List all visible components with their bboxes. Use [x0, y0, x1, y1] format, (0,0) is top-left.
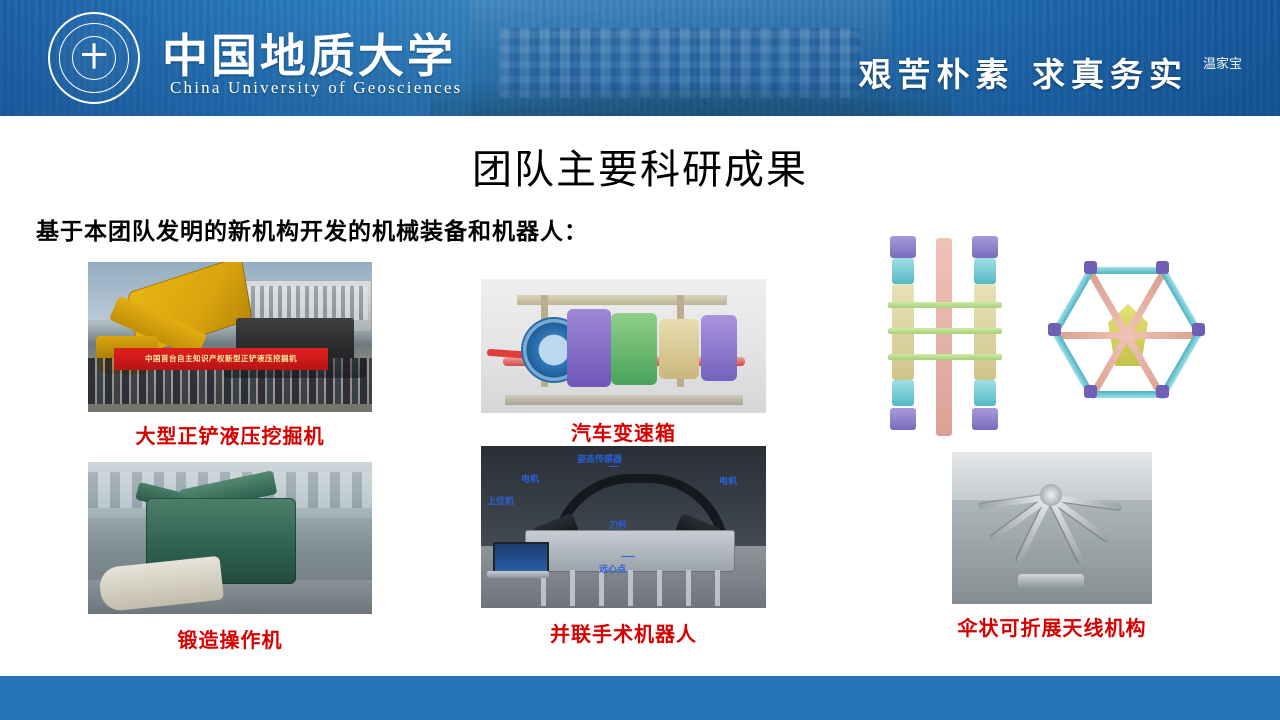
seal-center-glyph: 十 — [72, 36, 116, 80]
umbrella-hub — [1040, 484, 1062, 506]
slide-footer-bar — [0, 676, 1280, 720]
antenna-cylinder-bottom-right — [974, 380, 996, 406]
university-name-cn: 中国地质大学 — [162, 20, 456, 86]
figure-caption-umbrella-antenna: 伞状可折展天线机构 — [866, 612, 1238, 641]
antenna-joint-top-left — [890, 236, 916, 258]
antenna-hexagon-ring — [1042, 242, 1212, 422]
antenna-cross-bar-2 — [888, 328, 1002, 334]
umbrella-antenna-photo — [952, 452, 1152, 604]
annotation-leader-line-1 — [609, 466, 619, 467]
slide-title: 团队主要科研成果 — [0, 137, 1280, 195]
figure-deployable-antenna-cad — [872, 228, 1222, 446]
forging-manipulator-photo — [88, 462, 372, 614]
antenna-joint-bottom-left — [890, 408, 916, 430]
university-seal-icon: 十 — [48, 12, 140, 104]
antenna-node-1 — [1192, 323, 1205, 336]
antenna-node-5 — [1084, 261, 1097, 274]
gearbox-green-gear — [611, 313, 657, 385]
figure-umbrella-antenna: 伞状可折展天线机构 — [952, 452, 1152, 658]
university-name-en: China University of Geosciences — [170, 78, 462, 98]
laptop-base — [487, 571, 549, 578]
annotation-motor-right: 电机 — [719, 474, 737, 487]
annotation-tool-shaft: 刀杆 — [609, 518, 627, 531]
antenna-cad-top-view — [1032, 234, 1222, 434]
surgical-robot-support-legs — [517, 570, 737, 606]
antenna-cylinder-top-left — [892, 258, 914, 284]
annotation-posture-sensor: 姿态传感器 — [577, 452, 622, 465]
excavator-photo: 中国首台自主知识产权新型正铲液压挖掘机 — [88, 262, 372, 412]
motto-signature-seal: 温家宝 — [1203, 58, 1242, 72]
antenna-spoke-1 — [1127, 332, 1199, 339]
gearbox-tan-gear — [659, 319, 699, 379]
antenna-center-mast — [936, 238, 952, 436]
antenna-node-3 — [1084, 385, 1097, 398]
figure-caption-parallel-surgical-robot: 并联手术机器人 — [481, 618, 766, 647]
figure-forging-manipulator: 锻造操作机 — [88, 462, 372, 658]
surgical-robot-laptop — [487, 542, 549, 580]
annotation-leader-line-2 — [621, 556, 635, 557]
antenna-cylinder-top-right — [974, 258, 996, 284]
umbrella-lab-floor — [952, 500, 1152, 604]
antenna-node-6 — [1156, 261, 1169, 274]
figure-excavator: 中国首台自主知识产权新型正铲液压挖掘机 大型正铲液压挖掘机 — [88, 262, 372, 452]
laptop-screen — [493, 542, 549, 574]
antenna-cross-bar-1 — [888, 302, 1002, 308]
annotation-motor-left: 电机 — [521, 472, 539, 485]
antenna-cross-bar-3 — [888, 354, 1002, 360]
figure-parallel-surgical-robot: 姿态传感器 电机 电机 上位机 刀杆 远心点 并联手术机器人 — [481, 446, 766, 658]
annotation-remote-center: 远心点 — [599, 562, 626, 575]
antenna-spoke-4 — [1055, 332, 1127, 339]
antenna-node-4 — [1048, 323, 1061, 336]
slide-subtitle: 基于本团队发明的新机构开发的机械装备和机器人： — [36, 212, 588, 246]
annotation-host-computer: 上位机 — [487, 494, 514, 507]
gearbox-purple-gear — [567, 309, 611, 387]
antenna-node-2 — [1156, 385, 1169, 398]
antenna-joint-bottom-right — [972, 408, 998, 430]
figure-caption-forging-manipulator: 锻造操作机 — [88, 624, 372, 653]
gearbox-base-rail — [505, 395, 743, 405]
antenna-joint-top-right — [972, 236, 998, 258]
slide-header-banner: 十 中国地质大学 China University of Geosciences… — [0, 0, 1280, 116]
antenna-cylinder-bottom-left — [892, 380, 914, 406]
parallel-surgical-robot-photo: 姿态传感器 电机 电机 上位机 刀杆 远心点 — [481, 446, 766, 608]
excavator-ceremony-banner: 中国首台自主知识产权新型正铲液压挖掘机 — [114, 348, 328, 370]
antenna-ring-seg-2 — [1087, 391, 1163, 398]
gearbox-top-rail — [517, 295, 727, 305]
umbrella-base — [1018, 574, 1084, 588]
university-motto: 艰苦朴素 求真务实 — [859, 48, 1189, 96]
automotive-gearbox-render — [481, 279, 766, 413]
figure-caption-automotive-gearbox: 汽车变速箱 — [481, 417, 766, 446]
figure-caption-excavator: 大型正铲液压挖掘机 — [88, 420, 372, 449]
antenna-cad-front-view — [872, 228, 1022, 446]
gearbox-purple-gear-2 — [701, 315, 737, 381]
surgical-robot-base-plate — [525, 530, 735, 572]
figure-automotive-gearbox: 汽车变速箱 — [481, 279, 766, 439]
